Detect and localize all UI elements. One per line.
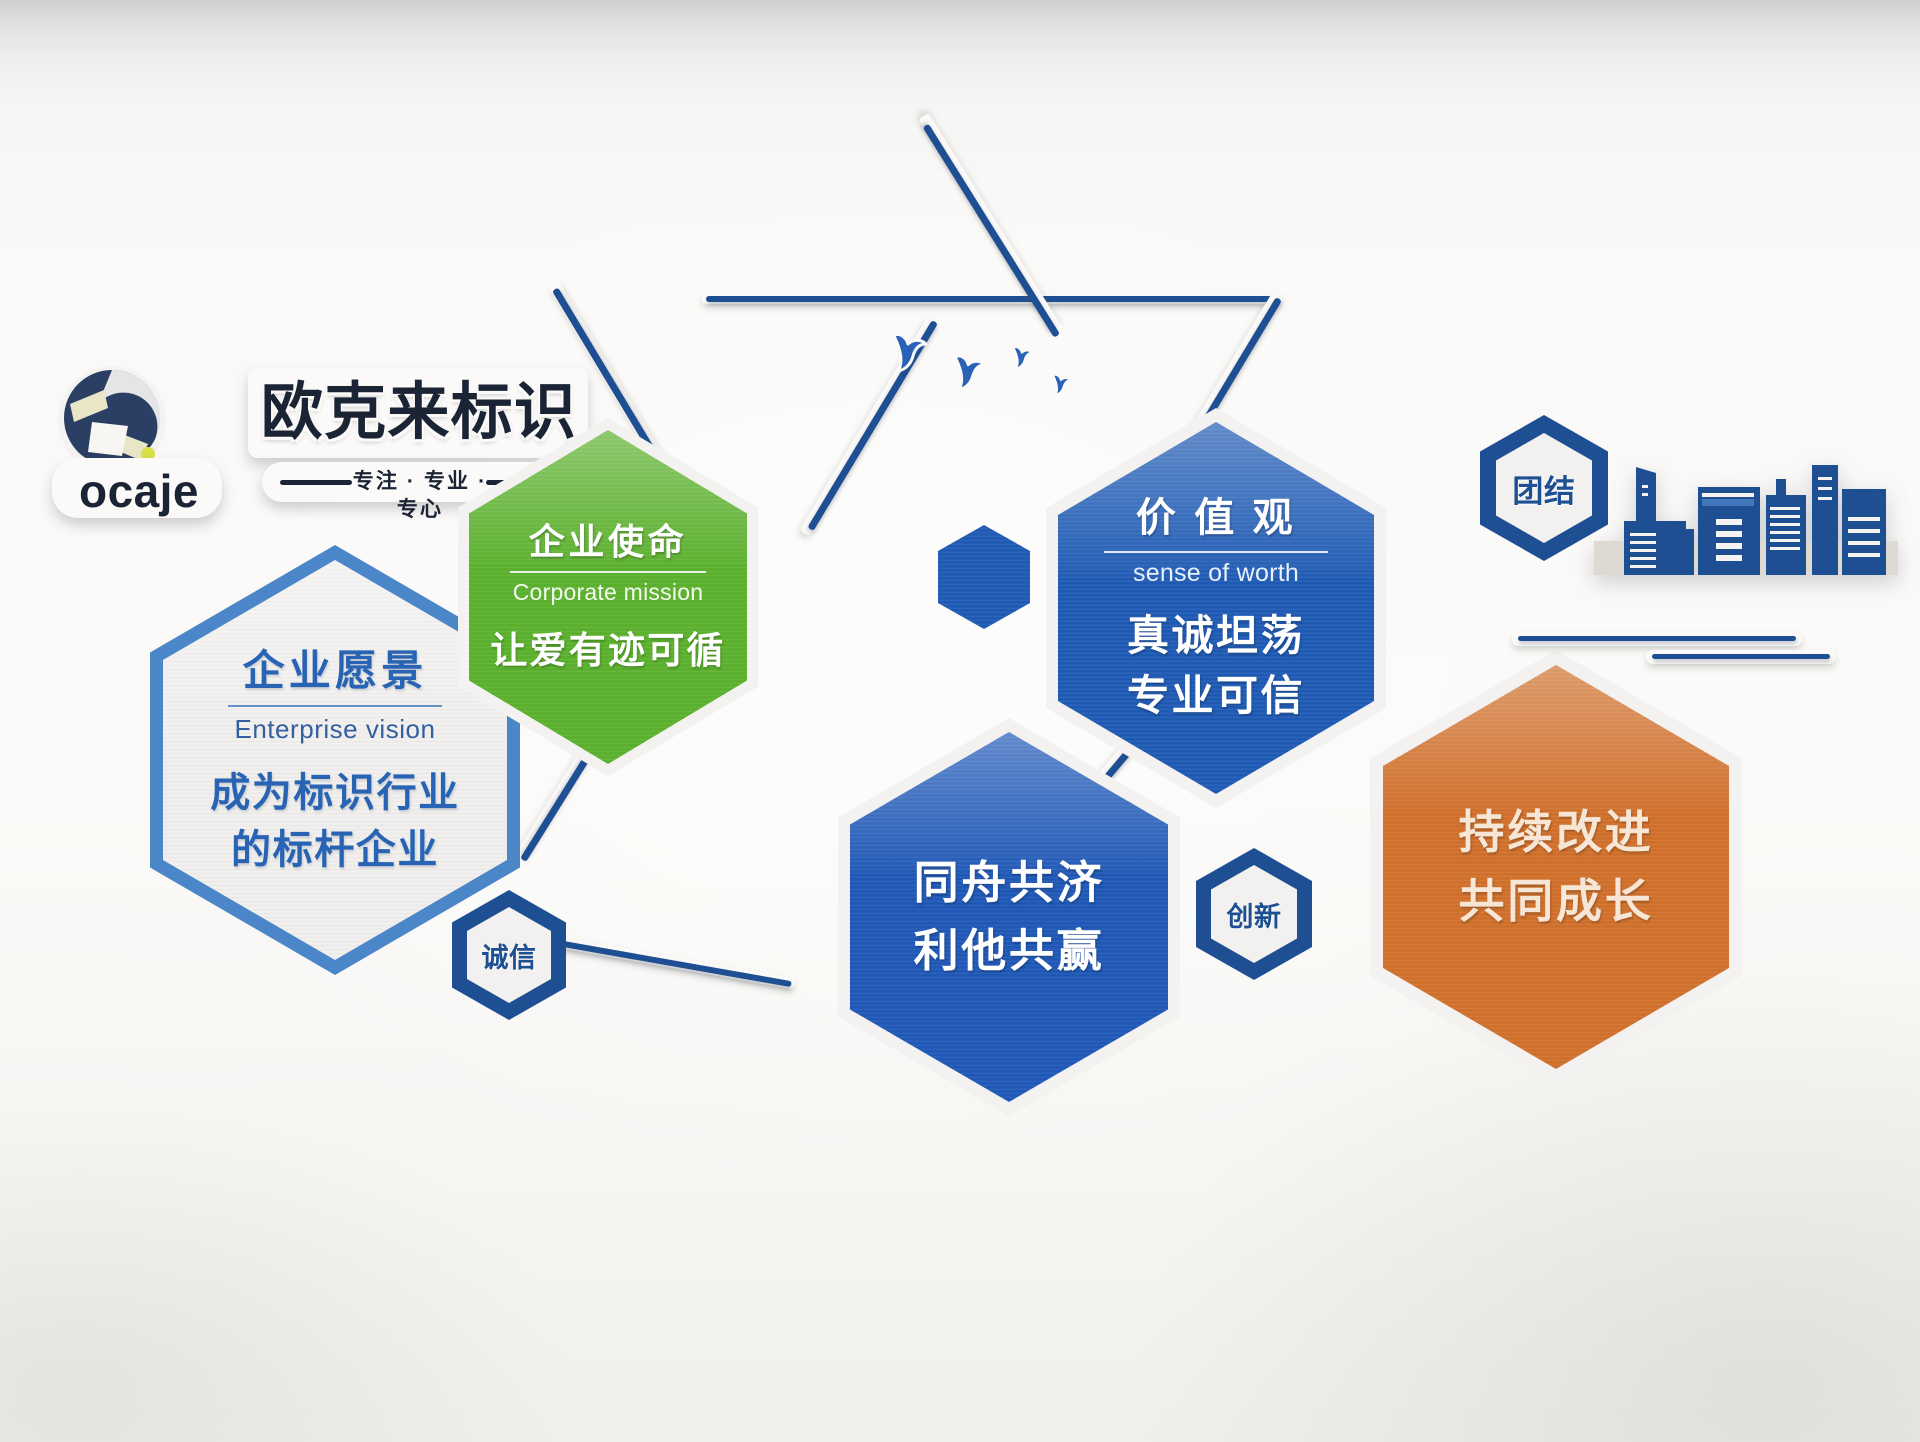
bird-icon-3: [1010, 344, 1036, 372]
mini-hex-unity: 团结: [1480, 415, 1608, 561]
hex-sense-of-worth-rule: [1104, 551, 1328, 553]
hex-continuous-improvement-body-line-2: 共同成长: [1458, 873, 1653, 930]
hex-enterprise-vision-rule: [228, 705, 442, 707]
hex-enterprise-vision-heading-en: Enterprise vision: [234, 714, 435, 745]
tagline-rule-left: [280, 480, 352, 485]
hex-sense-of-worth-heading-en: sense of worth: [1133, 559, 1299, 588]
connector-top-right: [706, 296, 1278, 302]
hex-sense-of-worth-body-line-2: 专业可信: [1127, 670, 1305, 722]
city-skyline-icon: [1590, 455, 1902, 605]
hex-continuous-improvement-body-line-1: 持续改进: [1458, 804, 1653, 861]
hex-enterprise-vision-heading-cn: 企业愿景: [243, 645, 428, 696]
connector-mid-right: [923, 124, 1060, 338]
skyline-underline-short-inner: [1652, 654, 1830, 659]
hex-corporate-mission: 企业使命 Corporate mission 让爱有迹可循: [458, 418, 758, 776]
hex-teamwork-spirit-body-line-1: 同舟共济: [914, 855, 1105, 911]
ocaje-wordmark: ocaje: [64, 464, 214, 518]
accent-hexagon: [938, 525, 1030, 629]
hex-teamwork-spirit-body-line-2: 利他共赢: [914, 923, 1105, 979]
culture-wall-photo: ocaje 欧克来标识 专注 · 专业 · 专心 企业愿景 Enterprise…: [0, 0, 1920, 1442]
hex-corporate-mission-body-line-1: 让爱有迹可循: [490, 628, 725, 674]
hex-corporate-mission-heading-en: Corporate mission: [513, 579, 704, 606]
hex-corporate-mission-rule: [510, 571, 706, 573]
bird-icon-1: [888, 330, 932, 376]
hex-sense-of-worth-heading-cn: 价 值 观: [1136, 494, 1296, 544]
bird-icon-4: [1050, 372, 1074, 398]
hex-continuous-improvement: 持续改进 共同成长: [1370, 650, 1742, 1084]
mini-hex-innovation-label: 创新: [1226, 895, 1281, 934]
skyline-underline-long-inner: [1518, 636, 1796, 641]
hex-sense-of-worth-body-line-1: 真诚坦荡: [1127, 610, 1305, 662]
hex-teamwork-spirit: 同舟共济 利他共赢: [838, 718, 1180, 1116]
mini-hex-innovation: 创新: [1196, 848, 1312, 980]
mini-hex-integrity-label: 诚信: [481, 936, 536, 975]
bird-icon-2: [950, 352, 990, 394]
mini-hex-integrity: 诚信: [452, 890, 566, 1020]
mini-hex-unity-label: 团结: [1512, 466, 1575, 511]
hex-corporate-mission-heading-cn: 企业使命: [529, 520, 687, 565]
hex-enterprise-vision-body-line-2: 的标杆企业: [231, 826, 439, 875]
hex-enterprise-vision-body-line-1: 成为标识行业: [210, 769, 460, 818]
